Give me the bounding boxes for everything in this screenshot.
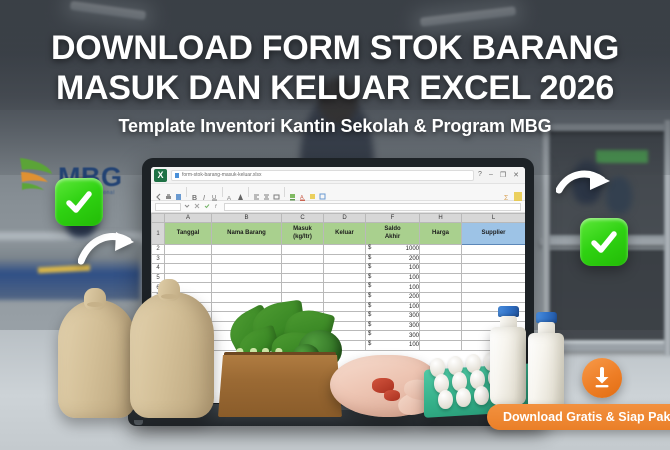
column-letter-a[interactable]: A <box>165 214 212 223</box>
cell-nama-barang[interactable] <box>212 283 282 293</box>
cell-supplier[interactable] <box>462 283 526 293</box>
svg-text:I: I <box>203 195 205 201</box>
cell-masuk[interactable] <box>282 264 324 274</box>
laptop-foot <box>134 420 143 425</box>
fill-color-icon[interactable] <box>289 188 296 196</box>
toolbar-divider <box>284 187 285 197</box>
pointer-arrow-left <box>78 228 142 273</box>
egg <box>456 388 471 407</box>
cell-supplier[interactable] <box>462 292 526 302</box>
excel-app-icon: X <box>154 169 167 182</box>
underline-icon[interactable]: U <box>211 188 218 196</box>
cell-harga[interactable] <box>420 292 462 302</box>
confirm-entry-icon[interactable] <box>204 203 211 211</box>
cell-harga[interactable] <box>420 254 462 264</box>
name-box[interactable] <box>155 203 181 211</box>
cell-harga[interactable] <box>420 273 462 283</box>
header-saldo-akhir: SaldoAkhir <box>366 223 420 245</box>
download-cta-label: Download Gratis & Siap Pakai <box>503 410 670 424</box>
formula-bar-row[interactable]: f <box>151 201 525 213</box>
cell-keluar[interactable] <box>324 264 366 274</box>
cell-nama-barang[interactable] <box>212 292 282 302</box>
bottle-body <box>490 327 526 405</box>
cell-supplier[interactable] <box>462 254 526 264</box>
cell-masuk[interactable] <box>282 273 324 283</box>
cell-keluar[interactable] <box>324 283 366 293</box>
rice-sack-tie <box>87 302 103 307</box>
subtitle: Template Inventori Kantin Sekolah & Prog… <box>0 116 670 137</box>
cancel-entry-icon[interactable] <box>194 203 201 211</box>
header-tanggal: Tanggal <box>165 223 212 245</box>
currency-symbol: $ <box>368 293 371 299</box>
font-size-icon[interactable]: A <box>227 188 234 196</box>
table-row[interactable]: 7$200 <box>152 292 526 302</box>
cell-tanggal[interactable] <box>165 245 212 255</box>
currency-symbol: $ <box>368 341 371 347</box>
chevron-down-icon[interactable] <box>184 203 191 211</box>
excel-title-bar: X form-stok-barang-masuk-keluar.xlsx ? –… <box>151 167 525 184</box>
check-mark-icon <box>589 227 619 257</box>
cell-saldo-akhir[interactable]: $300 <box>366 331 420 341</box>
currency-symbol: $ <box>368 322 371 328</box>
restore-button[interactable]: ❐ <box>500 171 506 179</box>
currency-symbol: $ <box>368 312 371 318</box>
account-icon[interactable] <box>514 188 521 196</box>
formula-input[interactable] <box>224 203 521 211</box>
window-controls[interactable]: ? – ❐ ✕ <box>478 171 522 179</box>
cell-supplier[interactable] <box>462 273 526 283</box>
print-icon[interactable] <box>165 188 172 196</box>
merge-cells-icon[interactable] <box>273 188 280 196</box>
currency-symbol: $ <box>368 331 371 337</box>
currency-symbol: $ <box>368 245 371 251</box>
currency-symbol: $ <box>368 303 371 309</box>
headline-block: DOWNLOAD FORM STOK BARANG MASUK DAN KELU… <box>0 28 670 137</box>
download-arrow-icon <box>591 367 613 389</box>
check-badge-left <box>55 178 103 226</box>
header-masuk: Masuk(kg/ltr) <box>282 223 324 245</box>
chicken-meat <box>384 390 400 401</box>
cell-harga[interactable] <box>420 321 462 331</box>
cell-masuk[interactable] <box>282 283 324 293</box>
bold-icon[interactable]: B <box>191 188 198 196</box>
cell-nama-barang[interactable] <box>212 245 282 255</box>
header-nama-barang: Nama Barang <box>212 223 282 245</box>
toolbar-divider <box>248 187 249 197</box>
cell-keluar[interactable] <box>324 245 366 255</box>
rice-sack <box>58 300 136 418</box>
filename-field[interactable]: form-stok-barang-masuk-keluar.xlsx <box>171 170 474 181</box>
toolbar-divider <box>186 187 187 197</box>
table-row[interactable]: 3$200 <box>152 254 526 264</box>
bottle-body <box>528 333 564 411</box>
table-row[interactable]: 6$100 <box>152 283 526 293</box>
pointer-arrow-right <box>556 168 618 211</box>
cell-tanggal[interactable] <box>165 254 212 264</box>
column-letter-row: A B C D F H L <box>152 214 526 223</box>
align-left-icon[interactable] <box>253 188 260 196</box>
italic-icon[interactable]: I <box>201 188 208 196</box>
cell-harga[interactable] <box>420 283 462 293</box>
cell-saldo-akhir[interactable]: $1000 <box>366 245 420 255</box>
table-row[interactable]: 5$100 <box>152 273 526 283</box>
cell-nama-barang[interactable] <box>212 264 282 274</box>
insert-function-icon[interactable]: f <box>214 203 221 211</box>
close-button[interactable]: ✕ <box>513 171 519 179</box>
text-color-icon[interactable]: A <box>299 188 306 196</box>
table-row[interactable]: 8$100 <box>152 302 526 312</box>
borders-icon[interactable] <box>319 188 326 196</box>
headline-line-2: MASUK DAN KELUAR EXCEL 2026 <box>0 68 670 108</box>
cell-nama-barang[interactable] <box>212 273 282 283</box>
align-center-icon[interactable] <box>263 188 270 196</box>
cell-harga[interactable] <box>420 245 462 255</box>
svg-text:f: f <box>215 204 217 209</box>
currency-symbol: $ <box>368 274 371 280</box>
svg-text:A: A <box>227 196 231 201</box>
cell-harga[interactable] <box>420 340 462 350</box>
filename-text: form-stok-barang-masuk-keluar.xlsx <box>182 172 261 178</box>
minimize-button[interactable]: – <box>489 171 493 179</box>
svg-text:B: B <box>192 195 197 201</box>
cell-saldo-akhir[interactable]: $100 <box>366 302 420 312</box>
rice-sack-tie <box>161 294 177 299</box>
cardboard-box <box>218 355 342 417</box>
excel-toolbar[interactable]: B I U A <box>151 184 525 201</box>
cell-saldo-akhir[interactable]: $300 <box>366 321 420 331</box>
rice-sack <box>130 292 214 418</box>
row-number[interactable]: 1 <box>152 223 165 245</box>
row-number[interactable]: 4 <box>152 264 165 274</box>
select-all-corner[interactable] <box>152 214 165 223</box>
column-letter-l[interactable]: L <box>462 214 526 223</box>
cell-saldo-akhir[interactable]: $100 <box>366 340 420 350</box>
download-cta-button[interactable]: Download Gratis & Siap Pakai <box>487 404 670 430</box>
highlight-icon[interactable] <box>309 188 316 196</box>
cell-masuk[interactable] <box>282 245 324 255</box>
header-keluar: Keluar <box>324 223 366 245</box>
check-mark-icon <box>64 187 94 217</box>
cell-keluar[interactable] <box>324 254 366 264</box>
cell-keluar[interactable] <box>324 273 366 283</box>
cell-saldo-akhir[interactable]: $200 <box>366 292 420 302</box>
table-row[interactable]: 2$1000 <box>152 245 526 255</box>
svg-text:Σ: Σ <box>504 195 509 201</box>
cell-harga[interactable] <box>420 331 462 341</box>
save-icon[interactable] <box>175 188 182 196</box>
header-supplier: Supplier <box>462 223 526 245</box>
cell-saldo-akhir[interactable]: $100 <box>366 264 420 274</box>
egg <box>474 386 489 405</box>
column-letter-d[interactable]: D <box>324 214 366 223</box>
cell-saldo-akhir[interactable]: $100 <box>366 283 420 293</box>
check-badge-right <box>580 218 628 266</box>
cell-nama-barang[interactable] <box>212 254 282 264</box>
cell-harga[interactable] <box>420 312 462 322</box>
column-letter-b[interactable]: B <box>212 214 282 223</box>
cell-harga[interactable] <box>420 302 462 312</box>
cell-keluar[interactable] <box>324 302 366 312</box>
column-letter-f[interactable]: F <box>366 214 420 223</box>
currency-symbol: $ <box>368 255 371 261</box>
download-icon-button[interactable] <box>582 358 622 398</box>
egg <box>438 390 453 409</box>
mbg-swoosh-icon <box>16 152 56 196</box>
cell-saldo-akhir[interactable]: $100 <box>366 273 420 283</box>
column-letter-h[interactable]: H <box>420 214 462 223</box>
cell-tanggal[interactable] <box>165 264 212 274</box>
autosum-icon[interactable]: Σ <box>504 188 511 196</box>
promo-banner: DOWNLOAD FORM STOK BARANG MASUK DAN KELU… <box>0 0 670 450</box>
header-harga: Harga <box>420 223 462 245</box>
table-row[interactable]: 4$100 <box>152 264 526 274</box>
headline-line-1: DOWNLOAD FORM STOK BARANG <box>0 28 670 68</box>
cell-supplier[interactable] <box>462 264 526 274</box>
cell-supplier[interactable] <box>462 245 526 255</box>
row-number[interactable]: 3 <box>152 254 165 264</box>
row-number[interactable]: 2 <box>152 245 165 255</box>
currency-symbol: $ <box>368 264 371 270</box>
currency-symbol: $ <box>368 283 371 289</box>
document-icon <box>175 173 179 178</box>
table-header-row: 1 Tanggal Nama Barang Masuk(kg/ltr) Kelu… <box>152 223 526 245</box>
cell-saldo-akhir[interactable]: $300 <box>366 312 420 322</box>
cell-saldo-akhir[interactable]: $200 <box>366 254 420 264</box>
help-button[interactable]: ? <box>478 171 482 179</box>
back-icon[interactable] <box>155 188 162 196</box>
font-color-icon[interactable] <box>237 188 244 196</box>
cell-masuk[interactable] <box>282 254 324 264</box>
cell-harga[interactable] <box>420 264 462 274</box>
column-letter-c[interactable]: C <box>282 214 324 223</box>
cell-keluar[interactable] <box>324 292 366 302</box>
toolbar-divider <box>222 187 223 197</box>
